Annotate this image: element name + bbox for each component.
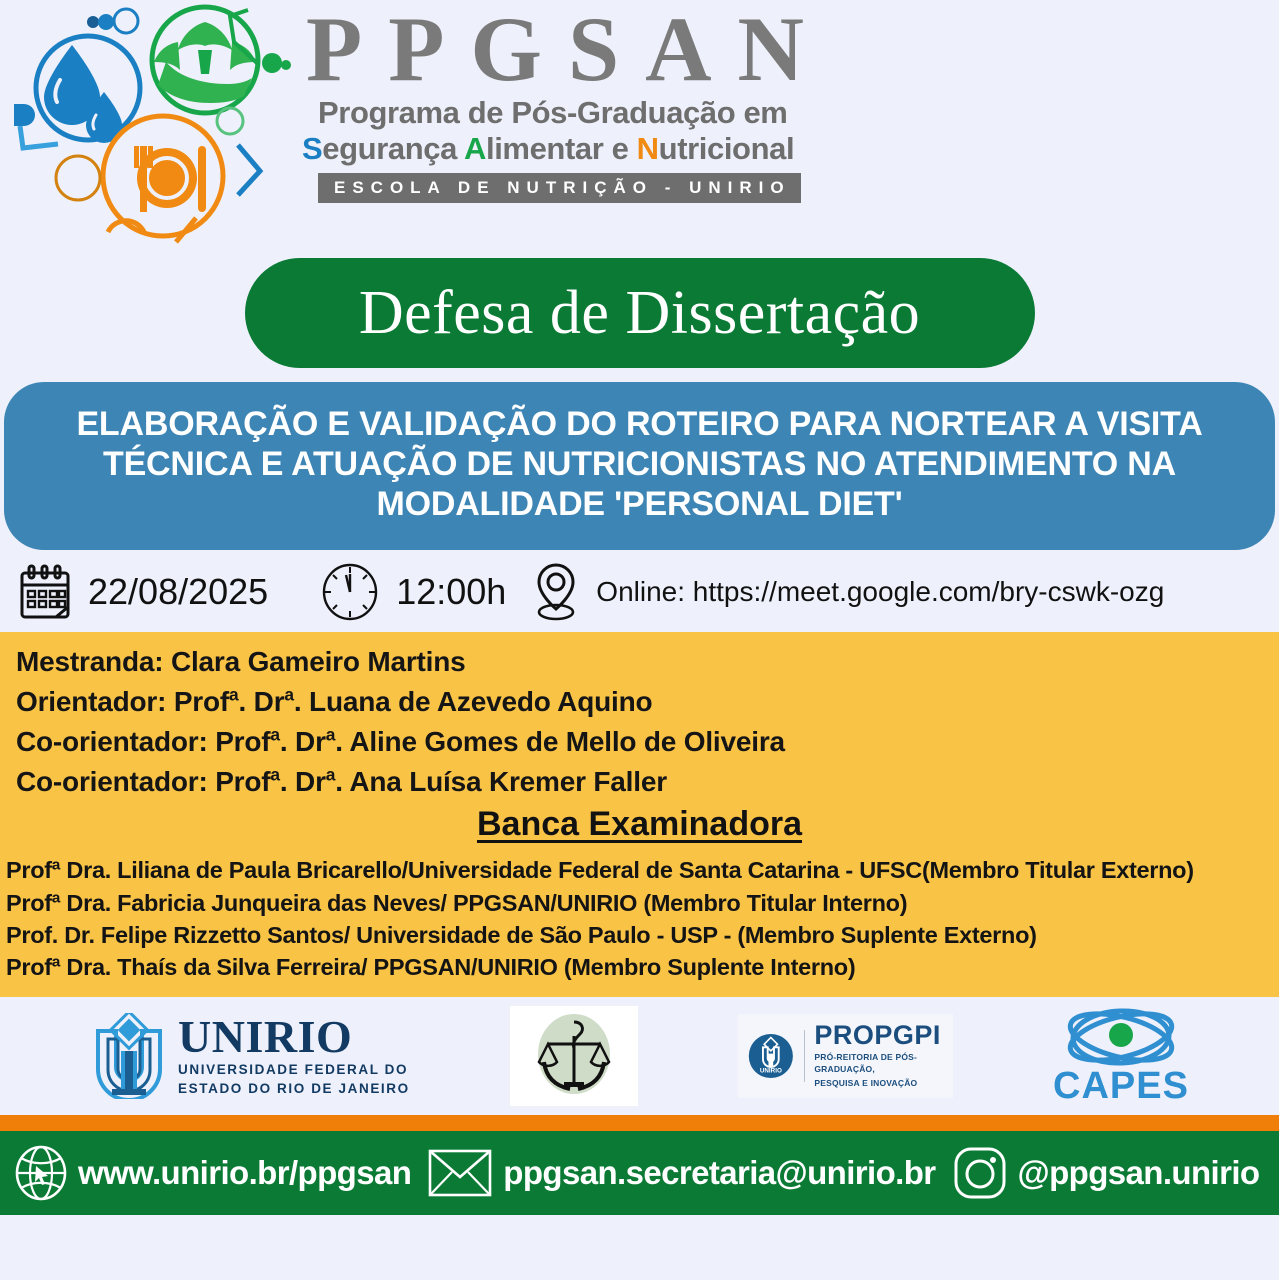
event-date-item: 22/08/2025 — [18, 563, 268, 621]
school-bar-label: ESCOLA DE NUTRIÇÃO - UNIRIO — [318, 173, 801, 203]
clock-icon — [320, 562, 380, 622]
brand-text-block: PPGSAN Programa de Pós-Graduação em Segu… — [300, 0, 830, 203]
unirio-shield-icon — [90, 1013, 168, 1099]
unirio-logo-slot: UNIRIO UNIVERSIDADE FEDERAL DO ESTADO DO… — [90, 1013, 410, 1099]
ppgsan-emblem-icon — [0, 0, 300, 250]
mestranda-row: Mestranda: Clara Gameiro Martins — [16, 642, 1279, 682]
event-type-banner-wrap: Defesa de Dissertação — [0, 258, 1279, 368]
brand-n-letter: N — [637, 131, 659, 166]
coorientador-1-row: Co-orientador: Profa. Dra. Aline Gomes d… — [16, 722, 1279, 762]
contact-footer: www.unirio.br/ppgsan ppgsan.secretaria@u… — [0, 1131, 1279, 1215]
banca-heading: Banca Examinadora — [0, 805, 1279, 844]
event-time-item: 12:00h — [320, 562, 506, 622]
banca-member: Profª Dra. Liliana de Paula Bricarello/U… — [6, 854, 1271, 886]
calendar-icon — [18, 563, 72, 621]
banca-member: Profª Dra. Thaís da Silva Ferreira/ PPGS… — [6, 951, 1271, 983]
propgpi-divider — [804, 1030, 805, 1082]
unirio-sub-line-2: ESTADO DO RIO DE JANEIRO — [178, 1081, 410, 1098]
people-panel: Mestranda: Clara Gameiro Martins Orienta… — [0, 632, 1279, 997]
instagram-icon — [952, 1145, 1008, 1201]
brand-program-line-2: Segurança Alimentar e Nutricional — [300, 131, 830, 167]
event-location: Online: https://meet.google.com/bry-cswk… — [596, 576, 1164, 608]
event-info-row: 22/08/2025 12:00h Online: https://meet.g… — [0, 550, 1279, 632]
banca-member: Profª Dra. Fabricia Junqueira das Neves/… — [6, 887, 1271, 919]
coorientador-2-row: Co-orientador: Profa. Dra. Ana Luísa Kre… — [16, 762, 1279, 802]
propgpi-badge-icon: UNIRIO — [748, 1027, 794, 1085]
propgpi-badge-text: UNIRIO — [760, 1068, 782, 1075]
instagram-text: @ppgsan.unirio — [1018, 1154, 1260, 1192]
event-date: 22/08/2025 — [88, 571, 268, 613]
capes-orbit-icon — [1057, 1005, 1185, 1069]
event-type-banner: Defesa de Dissertação — [245, 258, 1035, 368]
sponsor-logos-strip: UNIRIO UNIVERSIDADE FEDERAL DO ESTADO DO… — [0, 997, 1279, 1115]
escola-nutricao-seal-icon — [526, 1010, 622, 1102]
envelope-icon — [427, 1147, 493, 1199]
website-item[interactable]: www.unirio.br/ppgsan — [14, 1144, 411, 1202]
capes-logo: CAPES — [1053, 1005, 1189, 1108]
banca-members-list: Profª Dra. Liliana de Paula Bricarello/U… — [0, 854, 1279, 983]
map-pin-icon — [530, 561, 582, 623]
unirio-name: UNIRIO — [178, 1014, 410, 1060]
brand-program-line-1: Programa de Pós-Graduação em — [300, 95, 830, 131]
banca-member: Prof. Dr. Felipe Rizzetto Santos/ Univer… — [6, 919, 1271, 951]
email-text: ppgsan.secretaria@unirio.br — [503, 1154, 935, 1192]
people-list: Mestranda: Clara Gameiro Martins Orienta… — [0, 642, 1279, 801]
event-time: 12:00h — [396, 571, 506, 613]
instagram-item[interactable]: @ppgsan.unirio — [952, 1145, 1260, 1201]
brand-nutricional-text: utricional — [659, 131, 795, 166]
brand-acronym: PPGSAN — [300, 6, 830, 93]
propgpi-sub-line-1: PRÓ-REITORIA DE PÓS-GRADUAÇÃO, — [814, 1052, 943, 1075]
header: PPGSAN Programa de Pós-Graduação em Segu… — [0, 0, 1279, 250]
brand-alimentar-text: limentar e — [486, 131, 637, 166]
brand-seguranca-text: egurança — [322, 131, 464, 166]
mestranda-name: Clara Gameiro Martins — [171, 646, 466, 677]
coorientador-1-name: Aline Gomes de Mello de Oliveira — [349, 726, 785, 757]
orientador-name: Luana de Azevedo Aquino — [309, 686, 652, 717]
capes-name: CAPES — [1053, 1065, 1189, 1108]
propgpi-title: PROPGPI — [814, 1022, 943, 1049]
orientador-row: Orientador: Profa. Dra. Luana de Azevedo… — [16, 682, 1279, 722]
thesis-title: ELABORAÇÃO E VALIDAÇÃO DO ROTEIRO PARA N… — [44, 404, 1235, 524]
coorientador-2-name: Ana Luísa Kremer Faller — [349, 766, 667, 797]
unirio-sub-line-1: UNIVERSIDADE FEDERAL DO — [178, 1062, 410, 1079]
event-type-label: Defesa de Dissertação — [359, 278, 920, 349]
brand-s-letter: S — [302, 131, 322, 166]
thesis-title-band: ELABORAÇÃO E VALIDAÇÃO DO ROTEIRO PARA N… — [4, 382, 1275, 550]
globe-icon — [14, 1144, 68, 1202]
propgpi-sub-line-2: PESQUISA E INOVAÇÃO — [814, 1078, 943, 1089]
brand-a-letter: A — [464, 131, 486, 166]
email-item[interactable]: ppgsan.secretaria@unirio.br — [427, 1147, 935, 1199]
propgpi-logo: UNIRIO PROPGPI PRÓ-REITORIA DE PÓS-GRADU… — [738, 1014, 953, 1097]
escola-nutricao-seal — [510, 1006, 638, 1106]
website-text: www.unirio.br/ppgsan — [78, 1154, 411, 1192]
event-location-item: Online: https://meet.google.com/bry-cswk… — [530, 561, 1164, 623]
orange-divider — [0, 1115, 1279, 1131]
